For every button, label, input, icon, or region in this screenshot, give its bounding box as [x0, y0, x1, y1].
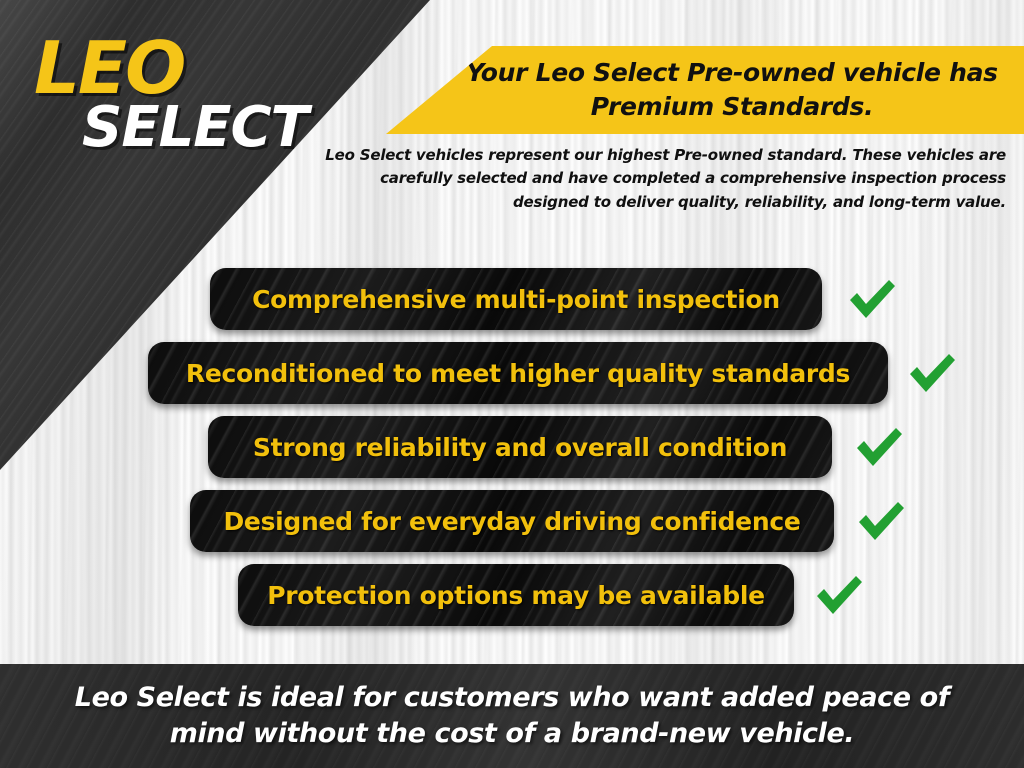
- headline-banner: Your Leo Select Pre-owned vehicle has Pr…: [386, 46, 1024, 134]
- footer-band: Leo Select is ideal for customers who wa…: [0, 664, 1024, 768]
- check-icon: [845, 274, 899, 326]
- intro-paragraph: Leo Select vehicles represent our highes…: [306, 144, 1006, 214]
- footer-text: Leo Select is ideal for customers who wa…: [0, 680, 1024, 753]
- logo-word-select: SELECT: [82, 101, 334, 154]
- feature-list: Comprehensive multi-point inspection Rec…: [0, 268, 1024, 638]
- feature-row: Designed for everyday driving confidence: [0, 490, 1024, 564]
- brand-logo: LEO SELECT: [34, 38, 334, 154]
- check-icon: [905, 348, 959, 400]
- feature-row: Reconditioned to meet higher quality sta…: [0, 342, 1024, 416]
- check-icon: [852, 422, 906, 474]
- feature-label: Protection options may be available: [267, 581, 765, 610]
- feature-label: Reconditioned to meet higher quality sta…: [186, 359, 850, 388]
- feature-row: Comprehensive multi-point inspection: [0, 268, 1024, 342]
- feature-label: Strong reliability and overall condition: [253, 433, 787, 462]
- feature-label: Designed for everyday driving confidence: [223, 507, 800, 536]
- feature-pill: Reconditioned to meet higher quality sta…: [148, 342, 888, 404]
- logo-word-leo: LEO: [34, 38, 334, 99]
- feature-pill: Protection options may be available: [238, 564, 794, 626]
- feature-row: Protection options may be available: [0, 564, 1024, 638]
- headline-text: Your Leo Select Pre-owned vehicle has Pr…: [386, 56, 1024, 124]
- feature-label: Comprehensive multi-point inspection: [252, 285, 780, 314]
- promo-poster: LEO SELECT Your Leo Select Pre-owned veh…: [0, 0, 1024, 768]
- check-icon: [812, 570, 866, 622]
- feature-pill: Comprehensive multi-point inspection: [210, 268, 822, 330]
- feature-row: Strong reliability and overall condition: [0, 416, 1024, 490]
- feature-pill: Strong reliability and overall condition: [208, 416, 832, 478]
- feature-pill: Designed for everyday driving confidence: [190, 490, 834, 552]
- check-icon: [854, 496, 908, 548]
